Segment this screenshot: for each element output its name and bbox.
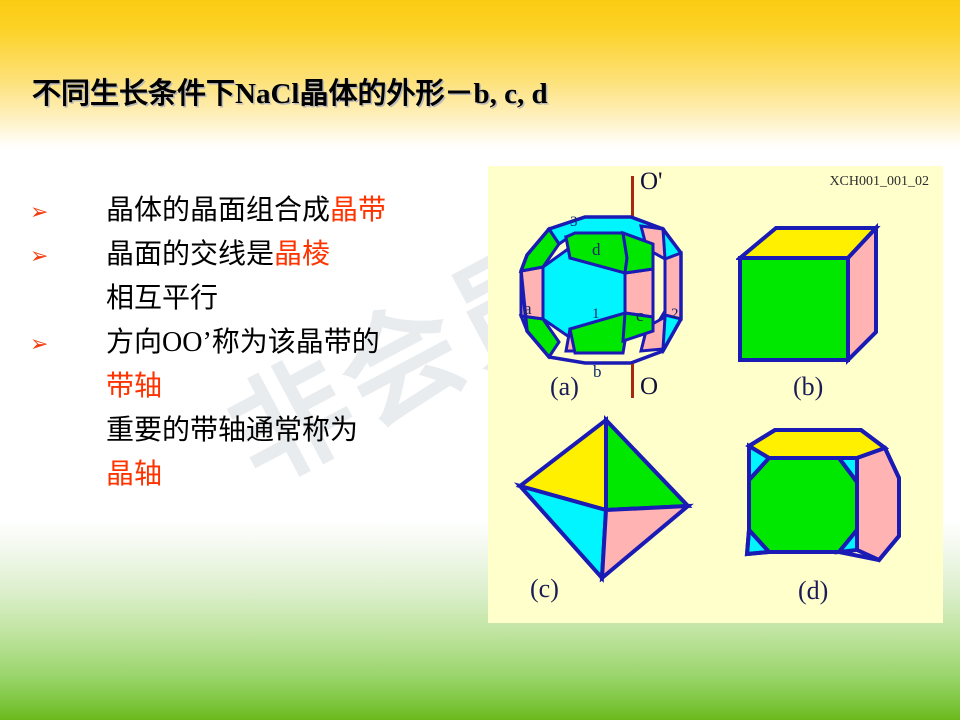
zone-axis-lower-line — [631, 364, 634, 398]
bullet-arrow-icon: ➢ — [20, 334, 106, 356]
list-item-highlight: 晶带 — [330, 188, 386, 228]
page-title: 不同生长条件下NaCl晶体的外形－b, c, d — [32, 70, 548, 112]
polyhedron-d-drawing — [733, 418, 913, 588]
panel-label-b: (b) — [793, 372, 823, 402]
list-item: ➢ 晶面的交线是晶棱 — [20, 232, 490, 276]
face-label-1: 1 — [592, 306, 600, 323]
list-item-text: 晶体的晶面组合成 — [106, 188, 330, 228]
panel-label-c: (c) — [530, 574, 559, 604]
slide-canvas: 非会员 不同生长条件下NaCl晶体的外形－b, c, d ➢ 晶体的晶面组合成晶… — [0, 0, 960, 720]
figure-panel: XCH001_001_02 O' — [488, 166, 943, 623]
bullet-arrow-icon: ➢ — [20, 202, 106, 224]
list-item-highlight: 晶轴 — [106, 452, 162, 492]
face-label-3: 3 — [570, 214, 578, 231]
bullet-list: ➢ 晶体的晶面组合成晶带 ➢ 晶面的交线是晶棱 相互平行 ➢ 方向OO’称为该晶… — [20, 188, 490, 496]
figure-code-label: XCH001_001_02 — [829, 174, 929, 190]
list-item: 相互平行 — [20, 276, 490, 320]
polyhedron-b-drawing — [736, 220, 896, 380]
list-item: 重要的带轴通常称为 — [20, 408, 490, 452]
zone-axis-bottom-letter: O — [640, 373, 658, 401]
list-item-highlight: 晶棱 — [274, 232, 330, 272]
list-item: 带轴 — [20, 364, 490, 408]
bullet-arrow-icon: ➢ — [20, 246, 106, 268]
zone-axis-top-letter: O' — [640, 168, 663, 196]
face-label-d: d — [592, 240, 601, 260]
panel-label-a: (a) — [550, 372, 579, 402]
face-label-b: b — [593, 362, 602, 382]
face-label-2: 2 — [671, 306, 679, 323]
panel-label-d: (d) — [798, 576, 828, 606]
list-item-text: 方向OO’称为该晶带的 — [106, 320, 380, 360]
list-item: ➢ 晶体的晶面组合成晶带 — [20, 188, 490, 232]
list-item: 晶轴 — [20, 452, 490, 496]
list-item-highlight: 带轴 — [106, 364, 162, 404]
polyhedron-c-drawing — [510, 414, 700, 584]
list-item-text: 相互平行 — [106, 276, 218, 316]
polyhedron-a-drawing — [513, 211, 703, 386]
list-item-text: 晶面的交线是 — [106, 232, 274, 272]
list-item-text: 重要的带轴通常称为 — [106, 408, 358, 448]
list-item: ➢ 方向OO’称为该晶带的 — [20, 320, 490, 364]
face-label-a: a — [524, 299, 532, 319]
face-label-c: c — [636, 306, 644, 326]
